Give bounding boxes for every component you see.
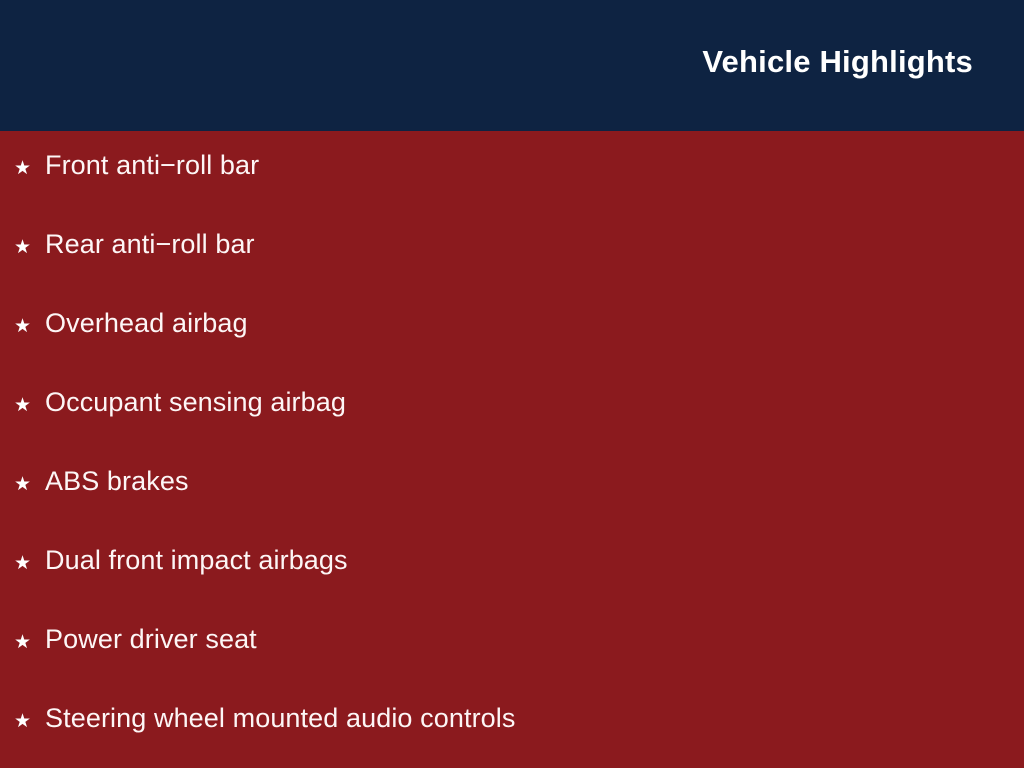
list-item-label: Front anti−roll bar xyxy=(45,152,259,179)
list-item: ★ Overhead airbag xyxy=(0,310,1024,389)
list-item-label: Occupant sensing airbag xyxy=(45,389,346,416)
list-item-label: Steering wheel mounted audio controls xyxy=(45,705,516,732)
slide-header-band: Vehicle Highlights xyxy=(0,0,1024,131)
star-bullet-icon: ★ xyxy=(14,396,45,415)
star-bullet-icon: ★ xyxy=(14,159,45,178)
list-item: ★ Dual front impact airbags xyxy=(0,547,1024,626)
list-item-label: ABS brakes xyxy=(45,468,189,495)
list-item-label: Power driver seat xyxy=(45,626,257,653)
star-bullet-icon: ★ xyxy=(14,475,45,494)
star-bullet-icon: ★ xyxy=(14,554,45,573)
list-item: ★ Front anti−roll bar xyxy=(0,152,1024,231)
list-item: ★ Occupant sensing airbag xyxy=(0,389,1024,468)
slide-root: Vehicle Highlights ★ Front anti−roll bar… xyxy=(0,0,1024,768)
list-item: ★ Rear anti−roll bar xyxy=(0,231,1024,310)
list-item-label: Overhead airbag xyxy=(45,310,248,337)
list-item: ★ ABS brakes xyxy=(0,468,1024,547)
page-title: Vehicle Highlights xyxy=(702,44,973,80)
star-bullet-icon: ★ xyxy=(14,633,45,652)
slide-body: ★ Front anti−roll bar ★ Rear anti−roll b… xyxy=(0,131,1024,768)
list-item-label: Dual front impact airbags xyxy=(45,547,348,574)
list-item: ★ Power driver seat xyxy=(0,626,1024,705)
star-bullet-icon: ★ xyxy=(14,238,45,257)
vehicle-highlights-list: ★ Front anti−roll bar ★ Rear anti−roll b… xyxy=(0,131,1024,768)
star-bullet-icon: ★ xyxy=(14,317,45,336)
list-item: ★ Steering wheel mounted audio controls xyxy=(0,705,1024,768)
star-bullet-icon: ★ xyxy=(14,712,45,731)
list-item-label: Rear anti−roll bar xyxy=(45,231,255,258)
